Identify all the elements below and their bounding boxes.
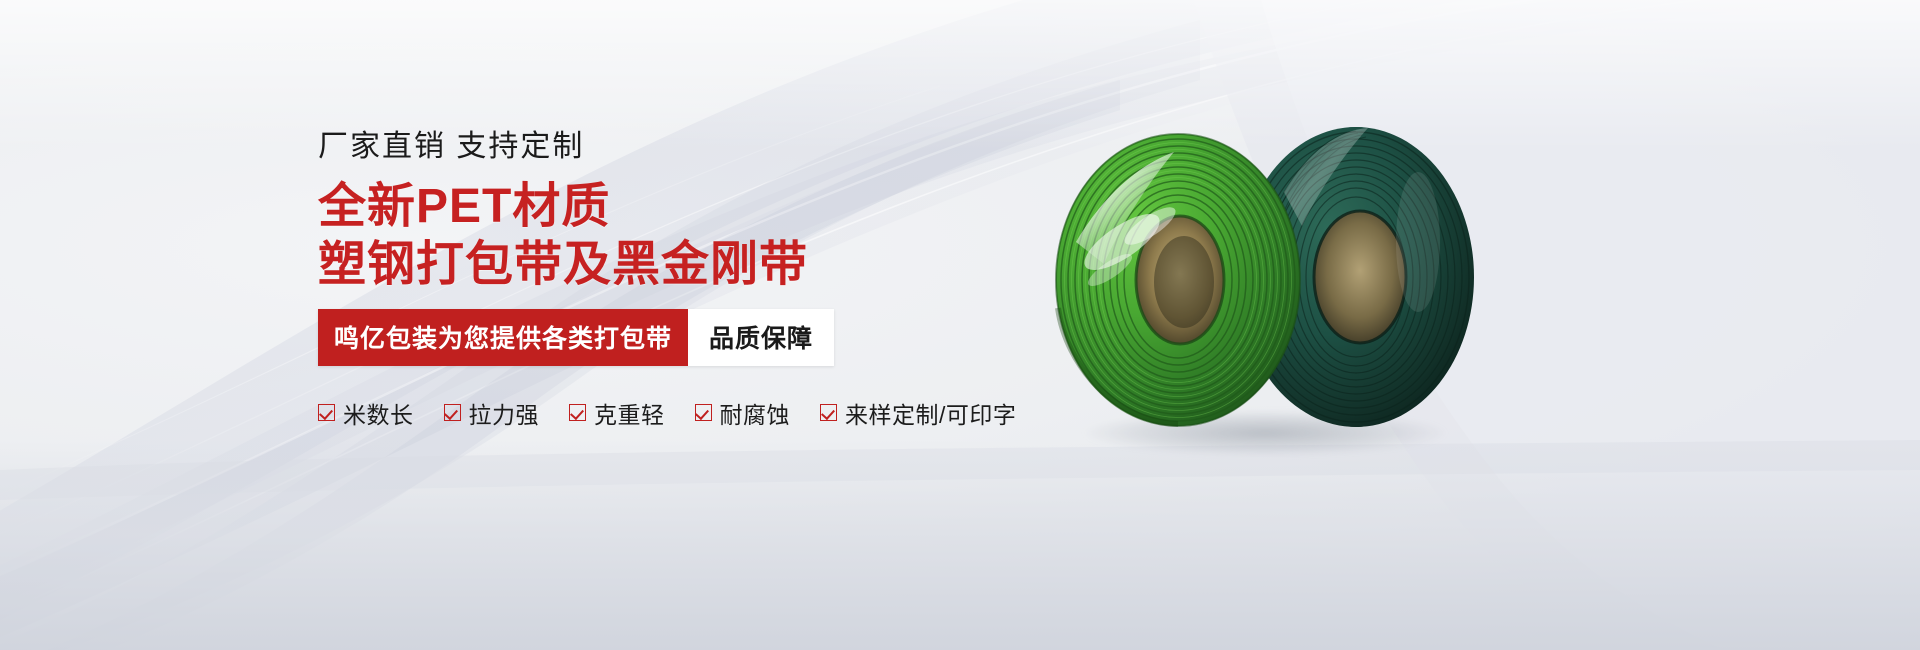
checkbox-checked-icon [444,404,461,421]
feature-label: 耐腐蚀 [720,396,791,430]
headline-line-1: 全新PET材质 [318,178,1018,237]
green-pet-strapping-coil [1018,130,1348,430]
promo-banner: 厂家直销 支持定制 全新PET材质 塑钢打包带及黑金刚带 鸣亿包装为您提供各类打… [0,0,1920,650]
feature-item: 克重轻 [569,396,665,430]
tagline-badges: 鸣亿包装为您提供各类打包带 品质保障 [318,309,834,366]
eyebrow-text: 厂家直销 支持定制 [318,128,1018,166]
feature-item: 来样定制/可印字 [820,396,1016,430]
feature-item: 米数长 [318,396,414,430]
feature-item: 耐腐蚀 [695,396,791,430]
checkbox-checked-icon [318,404,335,421]
company-tagline-badge: 鸣亿包装为您提供各类打包带 [318,309,688,366]
feature-label: 来样定制/可印字 [845,396,1016,430]
headline-line-2: 塑钢打包带及黑金刚带 [318,236,1018,295]
feature-label: 米数长 [343,396,414,430]
quality-guarantee-badge: 品质保障 [688,309,834,366]
checkbox-checked-icon [695,404,712,421]
product-photo [1010,108,1530,438]
feature-list: 米数长 拉力强 克重轻 耐腐蚀 来样定制/可印字 [318,396,1018,430]
checkbox-checked-icon [569,404,586,421]
feature-item: 拉力强 [444,396,540,430]
checkbox-checked-icon [820,404,837,421]
banner-copy: 厂家直销 支持定制 全新PET材质 塑钢打包带及黑金刚带 鸣亿包装为您提供各类打… [318,128,1018,430]
feature-label: 拉力强 [469,396,540,430]
feature-label: 克重轻 [594,396,665,430]
